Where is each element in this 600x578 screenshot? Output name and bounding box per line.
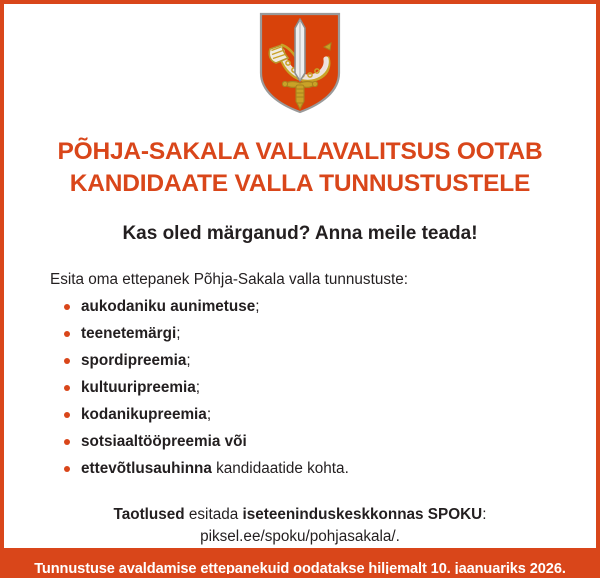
- list-item: spordipreemia;: [50, 351, 574, 371]
- bullet-icon: [64, 331, 70, 337]
- application-line-1: Taotlused esitada iseteeninduskeskkonnas…: [26, 504, 574, 526]
- poster-content: PÕHJA-SAKALA VALLAVALITSUS OOTAB KANDIDA…: [4, 4, 596, 548]
- award-name: ettevõtlusauhinna: [81, 460, 212, 477]
- list-item: sotsiaaltööpreemia või: [50, 432, 574, 452]
- award-name: sotsiaaltööpreemia või: [81, 433, 247, 450]
- announcement-poster: PÕHJA-SAKALA VALLAVALITSUS OOTAB KANDIDA…: [0, 0, 600, 578]
- award-name: spordipreemia: [81, 352, 186, 369]
- application-verb: esitada: [185, 506, 243, 523]
- application-colon: :: [482, 506, 486, 523]
- list-item: ettevõtlusauhinna kandidaatide kohta.: [50, 459, 574, 479]
- bullet-icon: [64, 412, 70, 418]
- application-instructions: Taotlused esitada iseteeninduskeskkonnas…: [26, 504, 574, 548]
- list-item: kultuuripreemia;: [50, 378, 574, 398]
- bullet-icon: [64, 439, 70, 445]
- award-suffix: ;: [196, 379, 200, 396]
- awards-section: Esita oma ettepanek Põhja-Sakala valla t…: [26, 270, 574, 479]
- list-item: kodanikupreemia;: [50, 405, 574, 425]
- deadline-banner: Tunnustuse avaldamise ettepanekuid oodat…: [4, 548, 596, 578]
- award-name: kodanikupreemia: [81, 406, 207, 423]
- application-url[interactable]: piksel.ee/spoku/pohjasakala/.: [26, 526, 574, 548]
- awards-intro: Esita oma ettepanek Põhja-Sakala valla t…: [50, 270, 574, 290]
- award-name: kultuuripreemia: [81, 379, 196, 396]
- award-name: aukodaniku aunimetuse: [81, 298, 255, 315]
- award-suffix: kandidaatide kohta.: [212, 460, 349, 477]
- list-item: teenetemärgi;: [50, 324, 574, 344]
- awards-list: aukodaniku aunimetuse; teenetemärgi; spo…: [50, 297, 574, 479]
- bullet-icon: [64, 358, 70, 364]
- page-subtitle: Kas oled märganud? Anna meile teada!: [122, 222, 477, 246]
- page-title: PÕHJA-SAKALA VALLAVALITSUS OOTAB KANDIDA…: [58, 136, 543, 200]
- coat-of-arms-icon: [258, 11, 342, 115]
- bullet-icon: [64, 385, 70, 391]
- application-label: Taotlused: [114, 506, 185, 523]
- award-name: teenetemärgi: [81, 325, 176, 342]
- application-portal-name: iseteeninduskeskkonnas SPOKU: [242, 506, 482, 523]
- list-item: aukodaniku aunimetuse;: [50, 297, 574, 317]
- award-suffix: ;: [176, 325, 180, 342]
- bullet-icon: [64, 466, 70, 472]
- award-suffix: ;: [207, 406, 211, 423]
- award-suffix: ;: [255, 298, 259, 315]
- award-suffix: ;: [186, 352, 190, 369]
- bullet-icon: [64, 304, 70, 310]
- coat-of-arms: [256, 11, 344, 119]
